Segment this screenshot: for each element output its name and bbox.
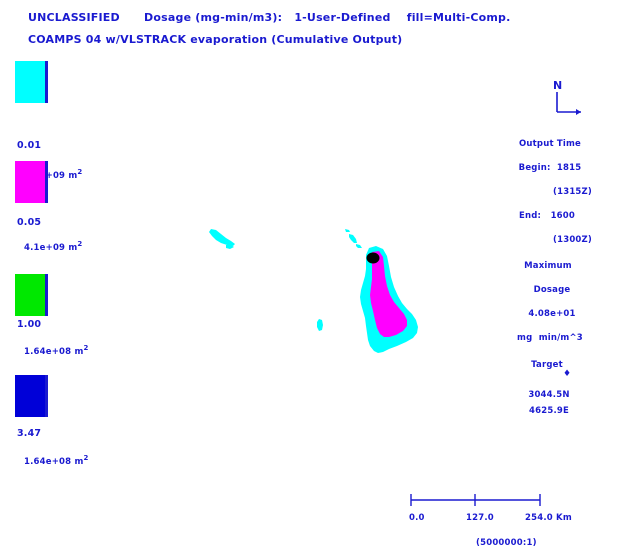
scale-tick-label-0: 0.0 [409,513,425,523]
scale-bar [408,492,543,508]
maximum-heading: Maximum [493,261,603,271]
target-latitude: 3044.5N [494,390,604,400]
output-time-heading: Output Time [495,139,605,149]
north-arrow-icon [557,92,581,115]
plume-fragment-head-a [349,234,357,243]
target-heading: Target [492,360,602,370]
map-plume-canvas [0,0,620,558]
max-dosage-units: mg min/m^3 [495,333,605,343]
begin-time-zulu: (1315Z) [482,187,592,197]
target-longitude: 4625.9E [494,406,604,416]
plume-fragment-head-c [345,229,350,232]
plume-fragment-head-b [356,244,362,248]
target-marker-icon: ♦ [563,369,571,379]
north-label: N [553,79,562,92]
vlstrack-dosage-plot-window: UNCLASSIFIED Dosage (mg-min/m3): 1-User-… [0,0,620,558]
dosage-heading: Dosage [497,285,607,295]
target-source-marker [367,253,380,264]
plume-fragment-isolated [317,319,323,331]
scale-tick-label-1: 127.0 [466,513,494,523]
end-time-zulu: (1300Z) [482,235,592,245]
scale-ratio-label: (5000000:1) [476,538,537,548]
end-time-value: End: 1600 [492,211,602,221]
begin-time-value: Begin: 1815 [495,163,605,173]
max-dosage-value: 4.08e+01 [497,309,607,319]
scale-tick-label-2: 254.0 Km [525,513,572,523]
plume-fragment-west [209,229,235,246]
